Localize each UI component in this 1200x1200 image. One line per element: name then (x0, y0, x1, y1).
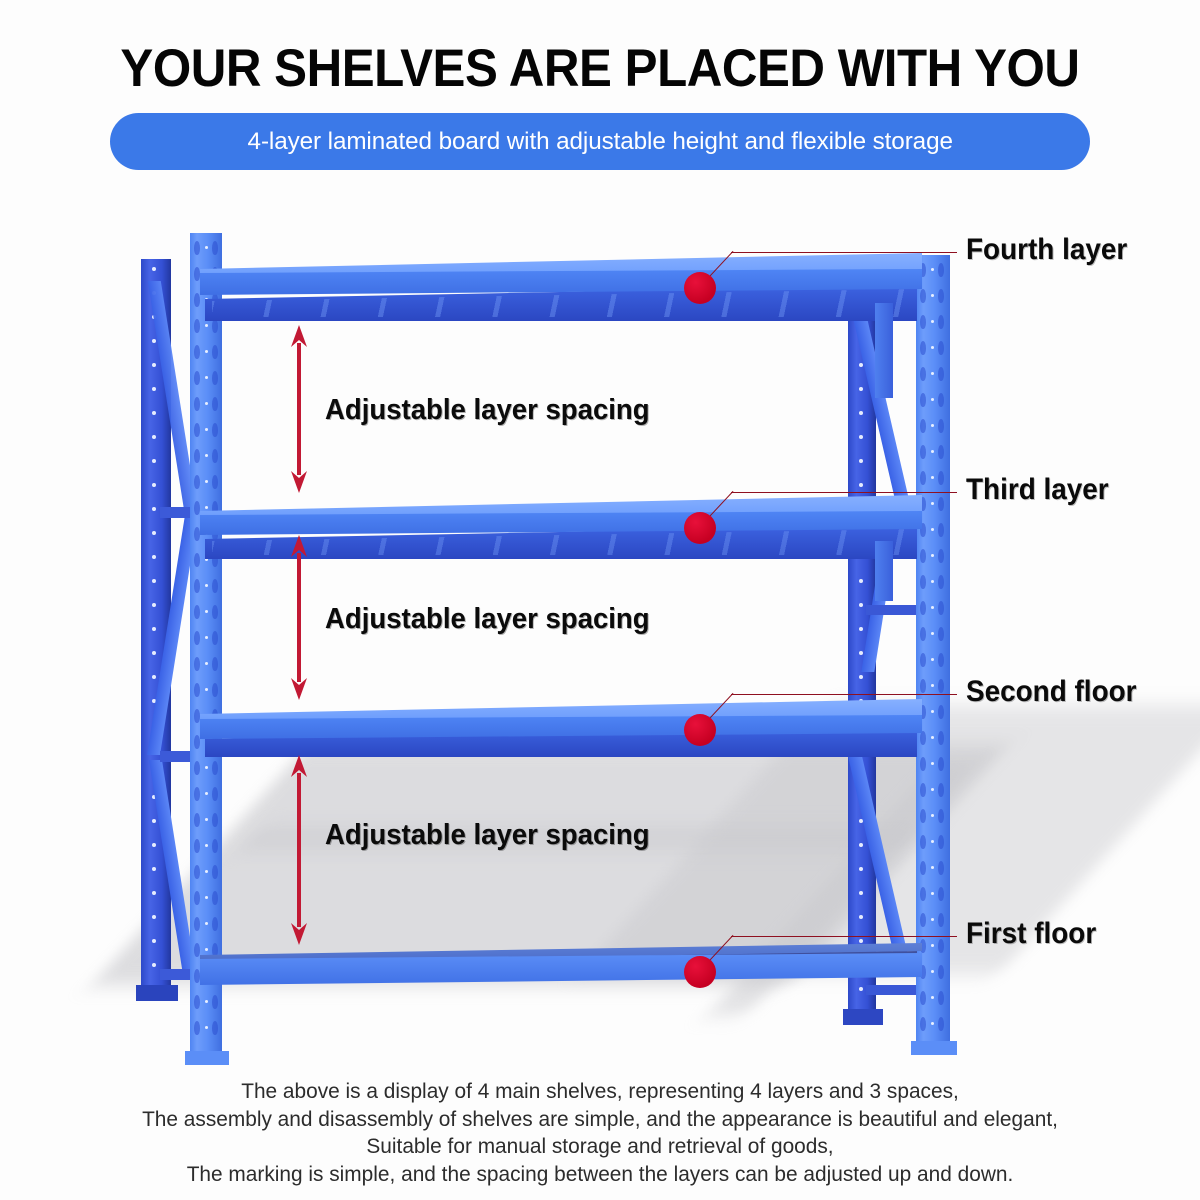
left-rear-foot (136, 985, 178, 1001)
shelf-three-right-post (875, 541, 893, 601)
rack-illustration: Adjustable layer spacing Adjustable laye… (0, 185, 1200, 1070)
arrow-shaft-1 (297, 343, 301, 475)
spacing-arrow-top (291, 325, 307, 493)
spacing-arrow-middle (291, 535, 307, 700)
footer-line-1: The above is a display of 4 main shelves… (18, 1078, 1182, 1106)
footer-line-3: Suitable for manual storage and retrieva… (18, 1133, 1182, 1161)
callout-dot-three (684, 512, 716, 544)
right-rear-foot (843, 1009, 883, 1025)
callout-dot-four (684, 272, 716, 304)
callout-leader-one (731, 936, 957, 937)
left-front-foot (185, 1051, 229, 1065)
callout-label-fourth-layer: Fourth layer (966, 233, 1127, 267)
arrow-shaft-3 (297, 773, 301, 927)
arrow-shaft-2 (297, 553, 301, 682)
right-frame-strut-2 (866, 985, 918, 995)
spacing-arrow-bottom (291, 755, 307, 945)
callout-leader-two (731, 694, 957, 695)
callout-leader-three (731, 492, 957, 493)
right-front-slot-pattern (916, 255, 950, 1045)
right-front-foot (911, 1041, 957, 1055)
callout-dot-one (684, 956, 716, 988)
spacing-label-top: Adjustable layer spacing (325, 394, 650, 427)
callout-label-third-layer: Third layer (966, 473, 1109, 507)
left-front-slot-pattern (190, 233, 222, 1055)
callout-leader-four (731, 252, 957, 253)
callout-label-second-floor: Second floor (966, 675, 1137, 709)
arrow-head-down-2 (291, 678, 307, 700)
arrow-head-down-3 (291, 923, 307, 945)
subtitle-banner: 4-layer laminated board with adjustable … (110, 113, 1090, 170)
right-front-upright (916, 255, 950, 1045)
right-frame-strut-1 (866, 605, 918, 615)
infographic-root: YOUR SHELVES ARE PLACED WITH YOU 4-layer… (0, 0, 1200, 1200)
arrow-head-down-1 (291, 471, 307, 493)
callout-dot-two (684, 714, 716, 746)
callout-label-first-floor: First floor (966, 917, 1096, 951)
page-title: YOUR SHELVES ARE PLACED WITH YOU (42, 38, 1158, 99)
spacing-label-bottom: Adjustable layer spacing (325, 819, 650, 852)
footer-caption: The above is a display of 4 main shelves… (18, 1078, 1182, 1188)
footer-line-4: The marking is simple, and the spacing b… (18, 1161, 1182, 1189)
footer-line-2: The assembly and disassembly of shelves … (18, 1106, 1182, 1134)
subtitle-text: 4-layer laminated board with adjustable … (247, 128, 952, 156)
spacing-label-middle: Adjustable layer spacing (325, 603, 650, 636)
left-front-upright (190, 233, 222, 1055)
shelf-four-right-post (875, 303, 893, 398)
